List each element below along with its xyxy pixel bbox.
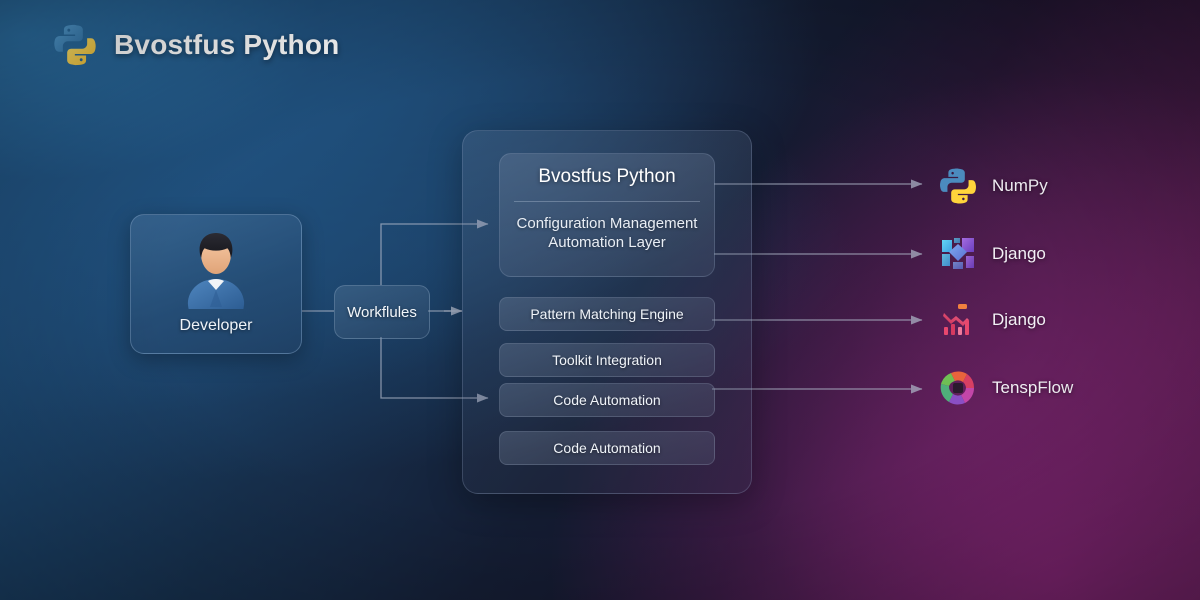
- output-django-chart[interactable]: Django: [938, 300, 1046, 340]
- panel-item-label: Toolkit Integration: [552, 352, 662, 368]
- panel-item-code-automation-1[interactable]: Code Automation: [499, 383, 715, 417]
- blocks-grid-icon: [938, 234, 978, 274]
- output-label: TenspFlow: [992, 378, 1073, 398]
- python-logo-icon: [938, 166, 978, 206]
- developer-card[interactable]: Developer: [130, 214, 302, 354]
- output-django-blocks[interactable]: Django: [938, 234, 1046, 274]
- panel-primary-card[interactable]: Bvostfus Python Configuration Management…: [499, 153, 715, 277]
- panel-item-pattern-matching-engine[interactable]: Pattern Matching Engine: [499, 297, 715, 331]
- page-title: Bvostfus Python: [114, 29, 339, 61]
- workflow-label: Workflules: [347, 304, 417, 321]
- panel-item-label: Pattern Matching Engine: [530, 306, 683, 322]
- bar-chart-arrow-icon: [938, 300, 978, 340]
- developer-avatar-icon: [170, 227, 262, 313]
- main-panel: Bvostfus Python Configuration Management…: [462, 130, 752, 494]
- panel-card-divider: [514, 201, 700, 202]
- diagram-canvas: Bvostfus Python: [0, 0, 1200, 600]
- hexagon-pinwheel-icon: [938, 368, 978, 408]
- panel-item-label: Code Automation: [553, 392, 660, 408]
- panel-item-code-automation-2[interactable]: Code Automation: [499, 431, 715, 465]
- connector-branch-down: [381, 337, 470, 398]
- output-tenspflow[interactable]: TenspFlow: [938, 368, 1073, 408]
- workflow-node[interactable]: Workflules: [334, 285, 430, 339]
- page-header: Bvostfus Python: [52, 22, 339, 68]
- output-label: Django: [992, 310, 1046, 330]
- panel-card-subtitle-line1: Configuration Management: [510, 214, 704, 233]
- output-label: NumPy: [992, 176, 1048, 196]
- panel-item-label: Code Automation: [553, 440, 660, 456]
- python-logo-icon: [52, 22, 98, 68]
- panel-card-title: Bvostfus Python: [510, 166, 704, 188]
- output-label: Django: [992, 244, 1046, 264]
- panel-item-toolkit-integration[interactable]: Toolkit Integration: [499, 343, 715, 377]
- developer-label: Developer: [180, 317, 253, 335]
- output-numpy[interactable]: NumPy: [938, 166, 1048, 206]
- panel-card-subtitle-line2: Automation Layer: [510, 233, 704, 252]
- connector-branch-up: [381, 224, 470, 285]
